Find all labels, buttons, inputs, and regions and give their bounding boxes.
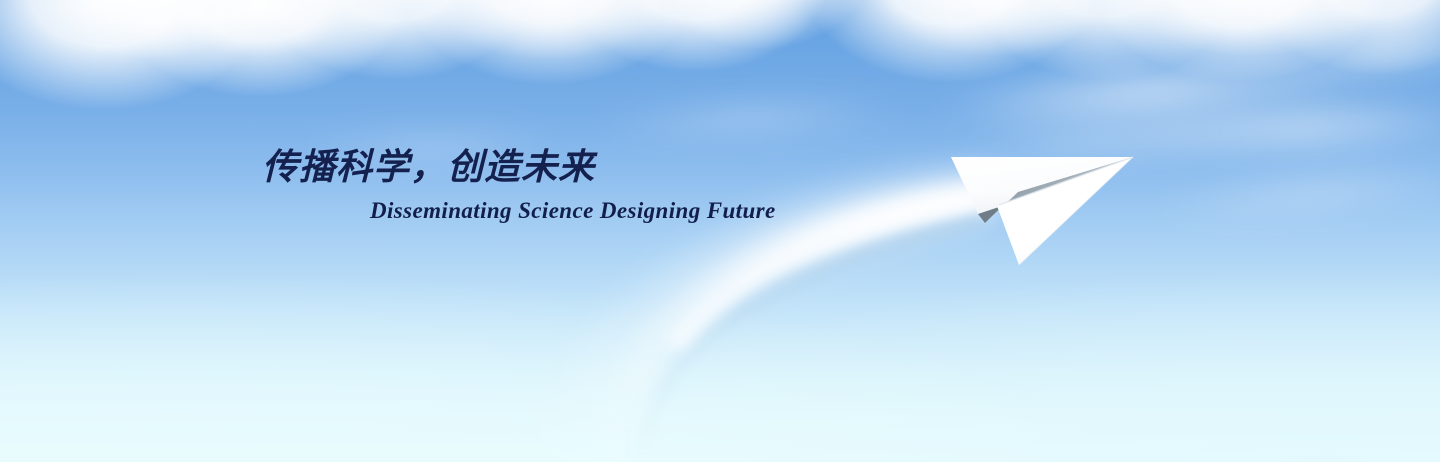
cirrus-cloud-icon [1119,87,1440,168]
cloud-icon [1090,0,1390,82]
cloud-icon [0,0,270,110]
cloud-icon [395,0,705,85]
cirrus-cloud-icon [1228,12,1440,102]
vapor-trail-icon [0,0,1440,462]
slogan-chinese: 传播科学，创造未来 [262,146,882,188]
cloud-icon [1130,0,1380,56]
cloud-icon [800,0,1100,83]
cloud-icon [1240,0,1440,75]
cloud-icon [880,0,1110,56]
sky-gradient [0,0,1440,462]
cloud-icon [250,0,540,80]
paper-plane-icon [0,0,1440,462]
cirrus-cloud-icon [1148,151,1440,235]
cloud-layer [0,0,1440,462]
cloud-icon [960,0,1250,80]
cloud-icon [430,0,670,60]
cloud-icon [560,0,830,72]
cloud-icon [40,0,255,60]
cirrus-cloud-icon [959,107,1281,175]
cloud-icon [640,0,880,50]
slogan-block: 传播科学，创造未来 Disseminating Science Designin… [262,146,882,224]
cirrus-cloud-icon [599,88,901,148]
cloud-icon [110,0,410,97]
hero-banner: 传播科学，创造未来 Disseminating Science Designin… [0,0,1440,462]
cloud-icon [170,0,350,56]
cirrus-cloud-icon [938,40,1363,146]
slogan-english: Disseminating Science Designing Future [370,198,882,223]
